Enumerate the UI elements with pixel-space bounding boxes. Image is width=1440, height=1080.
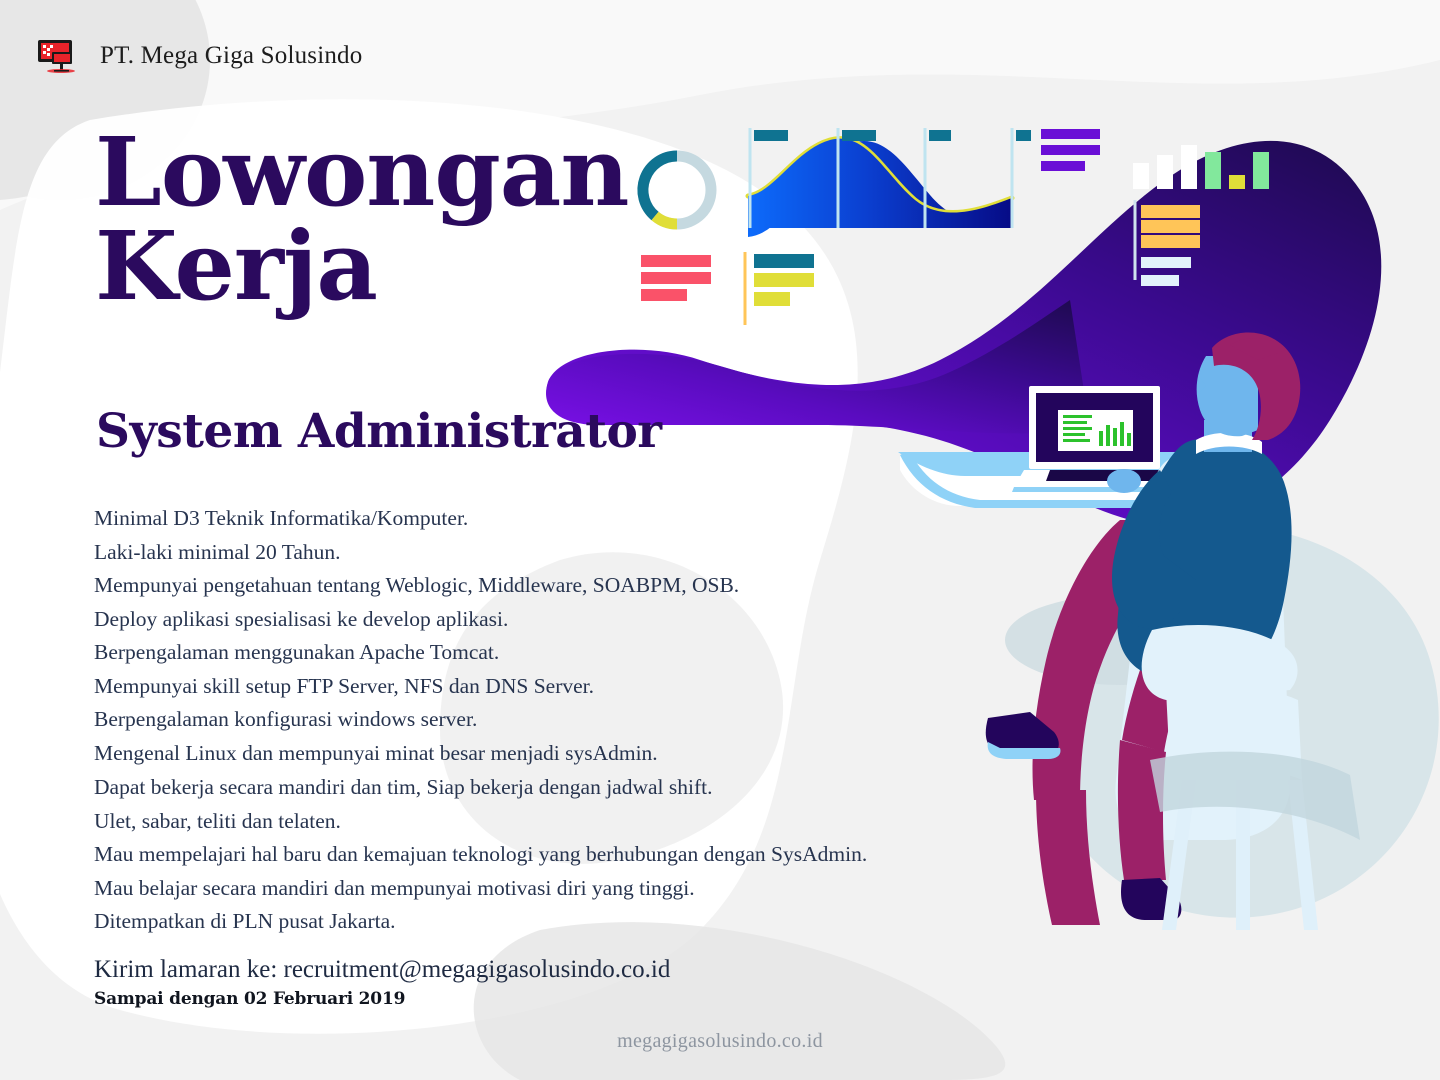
laptop-keyboard — [1046, 470, 1164, 481]
requirements-soft-list: Dapat bekerja secara mandiri dan tim, Si… — [94, 771, 867, 939]
position-title: System Administrator — [96, 404, 662, 459]
requirement-item: Laki-laki minimal 20 Tahun. — [94, 536, 739, 570]
requirement-item: Ulet, sabar, teliti dan telaten. — [94, 805, 867, 839]
brand-header: PT. Mega Giga Solusindo — [34, 36, 362, 76]
requirement-item: Minimal D3 Teknik Informatika/Komputer. — [94, 502, 739, 536]
laptop — [1012, 386, 1178, 492]
requirement-item: Mengenal Linux dan mempunyai minat besar… — [94, 737, 739, 771]
man-hand — [1107, 469, 1141, 493]
website-url[interactable]: megagigasolusindo.co.id — [0, 1030, 1440, 1053]
requirement-item: Mau mempelajari hal baru dan kemajuan te… — [94, 838, 867, 872]
application-deadline: Sampai dengan 02 Februari 2019 — [94, 986, 670, 1012]
contact-block: Kirim lamaran ke: recruitment@megagigaso… — [94, 954, 670, 1012]
company-name: PT. Mega Giga Solusindo — [100, 42, 362, 70]
job-poster: PT. Mega Giga Solusindo Lowongan Kerja S… — [0, 0, 1440, 1080]
requirement-item: Ditempatkan di PLN pusat Jakarta. — [94, 905, 867, 939]
requirement-item: Berpengalaman konfigurasi windows server… — [94, 703, 739, 737]
headline-line-2: Kerja — [95, 220, 628, 314]
requirement-item: Mau belajar secara mandiri dan mempunyai… — [94, 872, 867, 906]
requirement-item: Mempunyai pengetahuan tentang Weblogic, … — [94, 569, 739, 603]
monitor-icon — [34, 36, 78, 76]
requirements-main-list: Minimal D3 Teknik Informatika/Komputer.L… — [94, 502, 739, 770]
page-title: Lowongan Kerja — [95, 126, 628, 314]
requirement-item: Dapat bekerja secara mandiri dan tim, Si… — [94, 771, 867, 805]
requirement-item: Deploy aplikasi spesialisasi ke develop … — [94, 603, 739, 637]
requirement-item: Berpengalaman menggunakan Apache Tomcat. — [94, 636, 739, 670]
leg-lower — [1036, 790, 1100, 925]
apply-email-line[interactable]: Kirim lamaran ke: recruitment@megagigaso… — [94, 954, 670, 986]
requirement-item: Mempunyai skill setup FTP Server, NFS da… — [94, 670, 739, 704]
